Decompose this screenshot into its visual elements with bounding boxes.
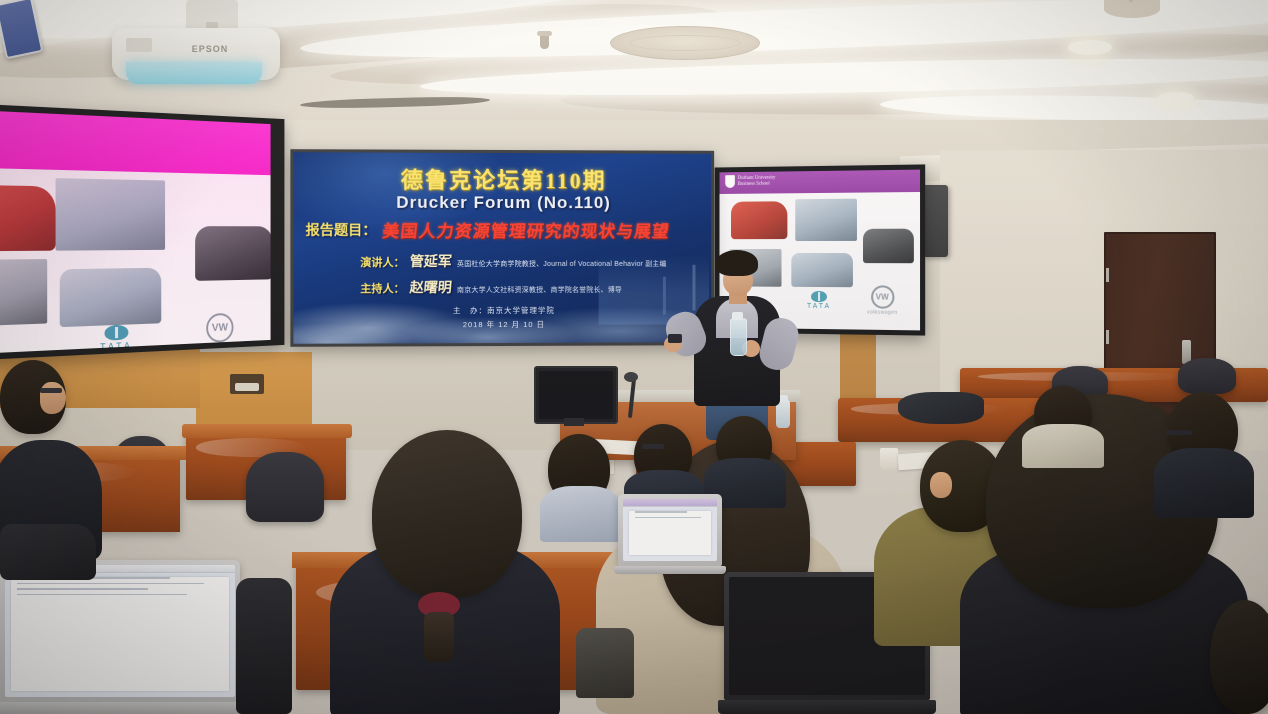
laptop-base: [718, 700, 936, 714]
presenter-hair: [716, 250, 758, 276]
audience-person: [1022, 424, 1104, 468]
laptop-lid: [618, 494, 722, 566]
banner-topic-label: 报告题目：: [306, 219, 377, 239]
ponytail: [424, 612, 454, 662]
eyeglasses: [1166, 430, 1192, 435]
event-banner: 德鲁克论坛第110期 Drucker Forum (No.110) 报告题目： …: [290, 149, 714, 347]
laptop-macbook-air[interactable]: [0, 560, 248, 714]
audience-person: [540, 486, 622, 542]
chair[interactable]: [246, 452, 324, 522]
audience-head: [1210, 600, 1268, 714]
laptop-lid: [0, 560, 240, 702]
projector-brand-label: EPSON: [180, 44, 240, 54]
laptop-base: [0, 702, 248, 714]
banner-host-label: 主持人：: [360, 280, 404, 296]
desk-surface: [182, 424, 352, 438]
laptop-screen[interactable]: [5, 565, 235, 697]
audience-person: [1154, 448, 1254, 518]
eyeglasses: [40, 388, 62, 393]
car-image-mini: [0, 185, 56, 252]
car-image-range-rover: [60, 268, 162, 327]
lecture-hall-photo: EPSON TATA VW volkswagen: [0, 0, 1268, 714]
water-bottle-held: [730, 318, 747, 356]
wall-outlet: [230, 374, 264, 394]
door-hinge: [1106, 330, 1109, 344]
pendant-fixture: [1104, 0, 1160, 18]
chair-back: [236, 578, 292, 714]
projector-vent: [126, 38, 152, 52]
ceiling-downlight: [1068, 40, 1112, 55]
paper-cup: [880, 448, 898, 470]
audience-head: [372, 430, 522, 598]
presentation-clicker[interactable]: [668, 334, 682, 343]
document-page[interactable]: [11, 577, 229, 691]
car-image-jaguar: [195, 226, 270, 281]
banner-date: 2018 年 12 月 10 日: [293, 318, 711, 330]
projection-screen-left: TATA VW volkswagen: [0, 104, 284, 360]
tata-logo-text: TATA: [86, 340, 145, 353]
tata-logo: TATA: [86, 324, 145, 353]
microphone-head: [624, 372, 638, 382]
volkswagen-logo: VW volkswagen: [191, 312, 247, 350]
audience-face: [40, 382, 66, 414]
laptop-base: [614, 566, 726, 574]
bottle-cap: [732, 312, 743, 320]
podium-monitor[interactable]: [534, 366, 618, 424]
document-page[interactable]: [629, 511, 711, 555]
banner-organizer: 主 办：南京大学管理学院: [293, 305, 711, 317]
banner-speaker-row: 演讲人： 管延军 英国杜伦大学商学院教授、Journal of Vocation…: [360, 251, 666, 271]
volkswagen-mark: VW: [206, 313, 233, 343]
slide-left: TATA VW volkswagen: [0, 111, 271, 354]
ceiling-vent-slot: [300, 96, 490, 110]
banner-topic: 美国人力资源管理研究的现状与展望: [381, 217, 671, 242]
chair[interactable]: [1178, 358, 1236, 394]
banner-host-row: 主持人： 赵曙明 南京大学人文社科资深教授、商学院名誉院长、博导: [360, 277, 622, 297]
audience-face: [930, 472, 952, 498]
round-ceiling-vent: [610, 26, 760, 60]
banner-topic-row: 报告题目： 美国人力资源管理研究的现状与展望: [306, 217, 704, 242]
projector-lens: [126, 62, 262, 84]
banner-host-name: 赵曙明: [409, 277, 453, 297]
laptop-screen[interactable]: [623, 499, 717, 561]
banner-speaker-label: 演讲人：: [360, 254, 404, 270]
coat-on-desk: [898, 392, 984, 424]
fire-sprinkler: [540, 34, 549, 49]
car-image-silver: [0, 259, 47, 327]
banner-speaker-name: 管延军: [409, 251, 453, 271]
car-image-sketch: [56, 178, 166, 251]
monitor-stand: [564, 418, 584, 426]
ceiling-downlight: [1158, 92, 1194, 104]
thermos-bottle: [576, 628, 634, 698]
slide-image-grid: TATA VW volkswagen: [0, 111, 271, 354]
laptop-silver[interactable]: [618, 494, 726, 574]
wall-speaker: [922, 185, 948, 257]
banner-speaker-affiliation: 英国杜伦大学商学院教授、Journal of Vocational Behavi…: [457, 259, 667, 269]
banner-host-affiliation: 南京大学人文社科资深教授、商学院名誉院长、博导: [457, 285, 622, 295]
backpack: [0, 524, 96, 580]
door-hinge: [1106, 268, 1109, 282]
eyeglasses: [642, 444, 664, 449]
banner-title-cn: 德鲁克论坛第110期: [293, 162, 711, 195]
banner-title-en: Drucker Forum (No.110): [293, 193, 711, 214]
